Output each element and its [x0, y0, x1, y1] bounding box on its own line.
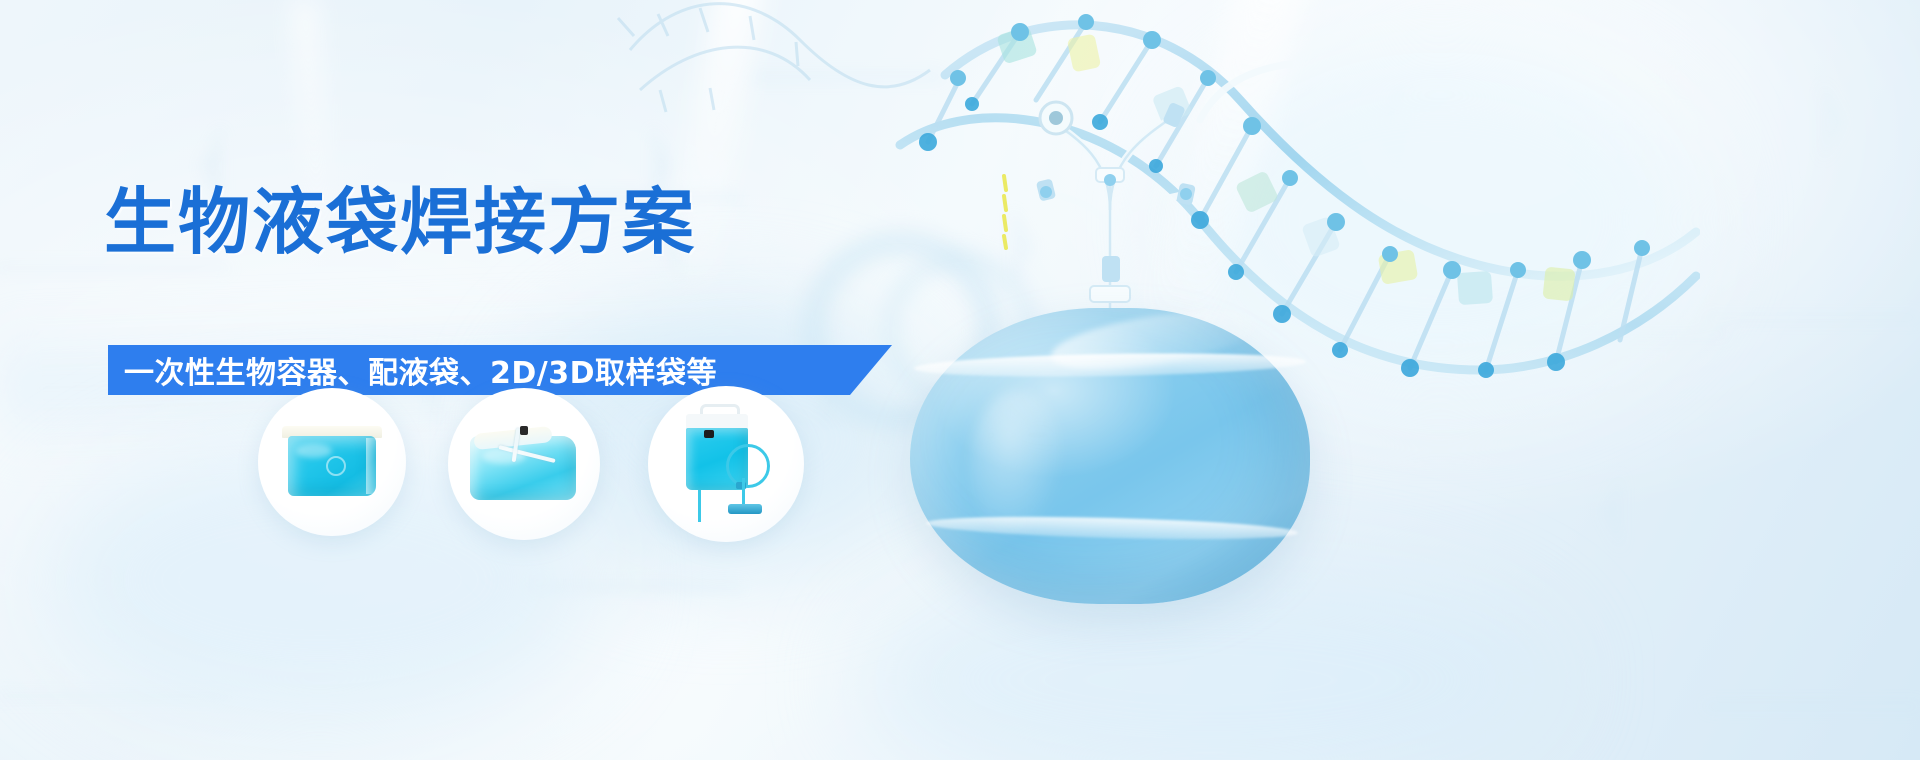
pillow-bag-icon — [282, 426, 382, 498]
tubing-loop — [726, 444, 770, 488]
product-thumbnail-group — [258, 388, 858, 558]
bag-highlight — [482, 448, 526, 464]
page-title: 生物液袋焊接方案 — [104, 186, 696, 258]
product-thumbnail-pillow-liquid-bag[interactable] — [258, 388, 406, 536]
3d-bag-icon — [468, 428, 578, 504]
hero-banner: 生物液袋焊接方案 一次性生物容器、配液袋、2D/3D取样袋等 — [0, 0, 1920, 760]
tubing-line — [698, 490, 701, 522]
bag-fold — [366, 438, 378, 494]
bag-cap-icon — [520, 426, 528, 435]
bag-spike-icon — [704, 430, 714, 438]
iv-bag-icon — [682, 404, 770, 526]
bag-port — [326, 456, 346, 476]
subtitle-text: 一次性生物容器、配液袋、2D/3D取样袋等 — [108, 348, 717, 392]
bag-highlight — [296, 444, 332, 458]
product-thumbnail-3d-sampling-bag[interactable] — [448, 388, 600, 540]
hexagon-shape — [1380, 0, 1844, 354]
3d-bioreactor-bag — [900, 300, 1320, 610]
hexagon-shape — [1600, 300, 1920, 724]
inline-filter-icon — [728, 504, 762, 514]
bag-highlight — [970, 390, 1066, 540]
tubing-manifold-icon — [960, 60, 1300, 320]
product-thumbnail-iv-sampling-bag[interactable] — [648, 386, 804, 542]
filter-disc-icon — [1040, 102, 1072, 134]
